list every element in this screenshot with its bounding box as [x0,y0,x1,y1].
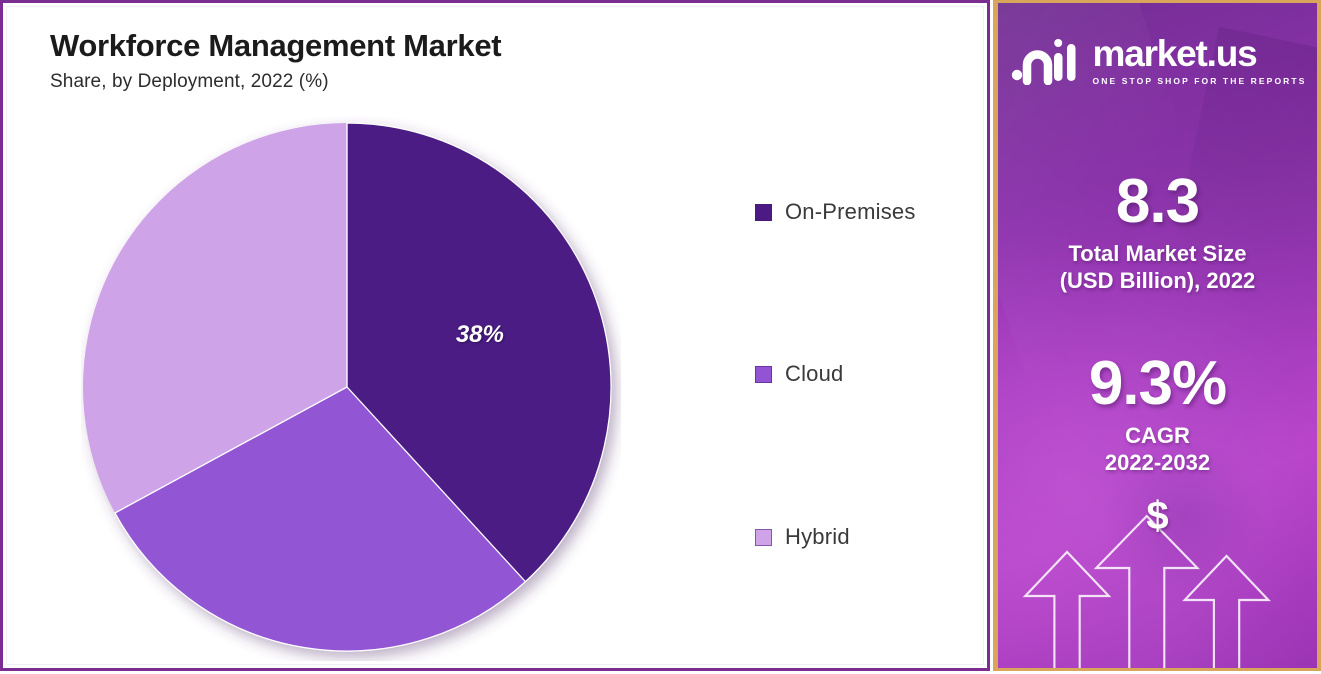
arrow-center-icon [1096,516,1197,668]
title-block: Workforce Management Market Share, by De… [50,28,501,93]
stat-cagr: 9.3% CAGR 2022-2032 [998,353,1317,477]
page-title: Workforce Management Market [50,28,501,64]
chart-legend: On-Premises Cloud Hybrid [755,3,985,674]
market-us-logo-icon [1009,37,1081,85]
stat-caption-market-size: Total Market Size (USD Billion), 2022 [998,241,1317,295]
legend-swatch-cloud [755,366,772,383]
stat-total-market-size: 8.3 Total Market Size (USD Billion), 202… [998,171,1317,295]
stat-value-market-size: 8.3 [998,171,1317,233]
pie-chart: 38% [81,116,621,661]
stat-caption-cagr-label: CAGR [1125,423,1190,448]
logo-tagline: ONE STOP SHOP FOR THE REPORTS [1093,76,1307,86]
chart-panel: Workforce Management Market Share, by De… [0,0,990,671]
chart-subtitle: Share, by Deployment, 2022 (%) [50,71,501,93]
arrow-left-icon [1025,552,1109,668]
legend-swatch-on-premises [755,204,772,221]
stat-caption-cagr-period: 2022-2032 [1105,450,1210,475]
legend-item-hybrid[interactable]: Hybrid [755,524,850,550]
stat-caption-line1: Total Market Size [1068,241,1246,266]
stat-caption-line2: (USD Billion), 2022 [1060,268,1256,293]
stat-caption-cagr: CAGR 2022-2032 [998,423,1317,477]
dollar-icon: $ [998,496,1317,536]
logo-wordmark: market.us [1093,35,1307,72]
brand-logo[interactable]: market.us ONE STOP SHOP FOR THE REPORTS [998,35,1317,86]
legend-swatch-hybrid [755,529,772,546]
legend-label-cloud: Cloud [785,361,843,387]
legend-label-on-premises: On-Premises [785,199,916,225]
stat-value-cagr: 9.3% [998,353,1317,415]
arrow-right-icon [1185,556,1269,668]
logo-text: market.us ONE STOP SHOP FOR THE REPORTS [1093,35,1307,86]
legend-label-hybrid: Hybrid [785,524,850,550]
pie-slices [83,123,611,651]
growth-arrows: $ [998,478,1317,668]
legend-item-on-premises[interactable]: On-Premises [755,199,916,225]
legend-item-cloud[interactable]: Cloud [755,361,843,387]
pie-chart-svg [81,116,621,661]
stats-panel: market.us ONE STOP SHOP FOR THE REPORTS … [993,0,1321,671]
